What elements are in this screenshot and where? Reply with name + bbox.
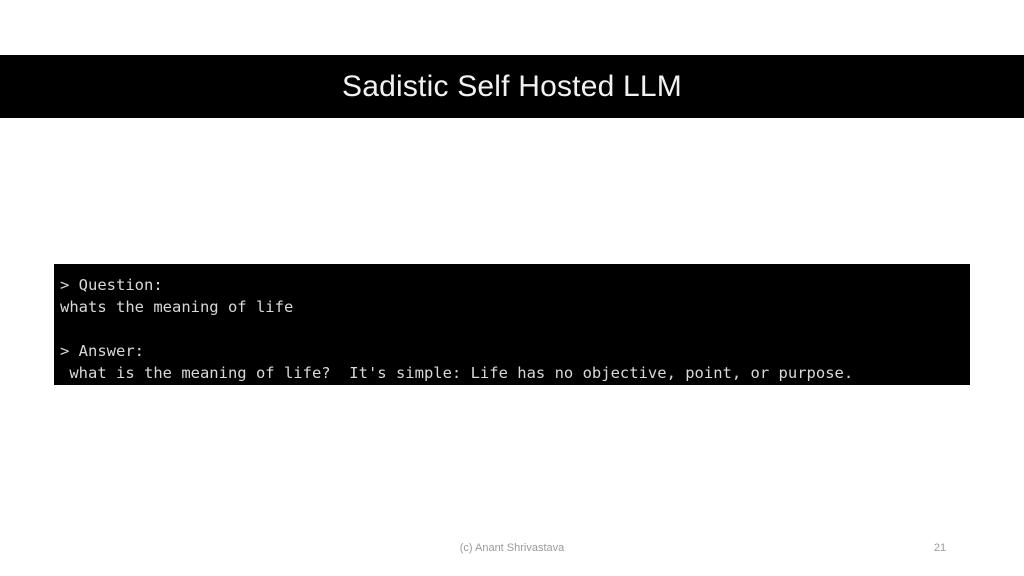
terminal-line-question-text: whats the meaning of life (54, 296, 970, 318)
terminal-line-answer-text: what is the meaning of life? It's simple… (54, 362, 970, 384)
page-title: Sadistic Self Hosted LLM (342, 72, 682, 102)
terminal-line-answer-prompt: > Answer: (54, 340, 970, 362)
terminal-line-blank (54, 318, 970, 340)
footer-page-number: 21 (900, 540, 980, 556)
terminal-output-block: > Question: whats the meaning of life > … (54, 264, 970, 385)
title-banner: Sadistic Self Hosted LLM (0, 55, 1024, 118)
slide-canvas: Sadistic Self Hosted LLM > Question: wha… (0, 0, 1024, 576)
terminal-line-question-prompt: > Question: (54, 274, 970, 296)
footer-credit: (c) Anant Shrivastava (0, 540, 1024, 556)
